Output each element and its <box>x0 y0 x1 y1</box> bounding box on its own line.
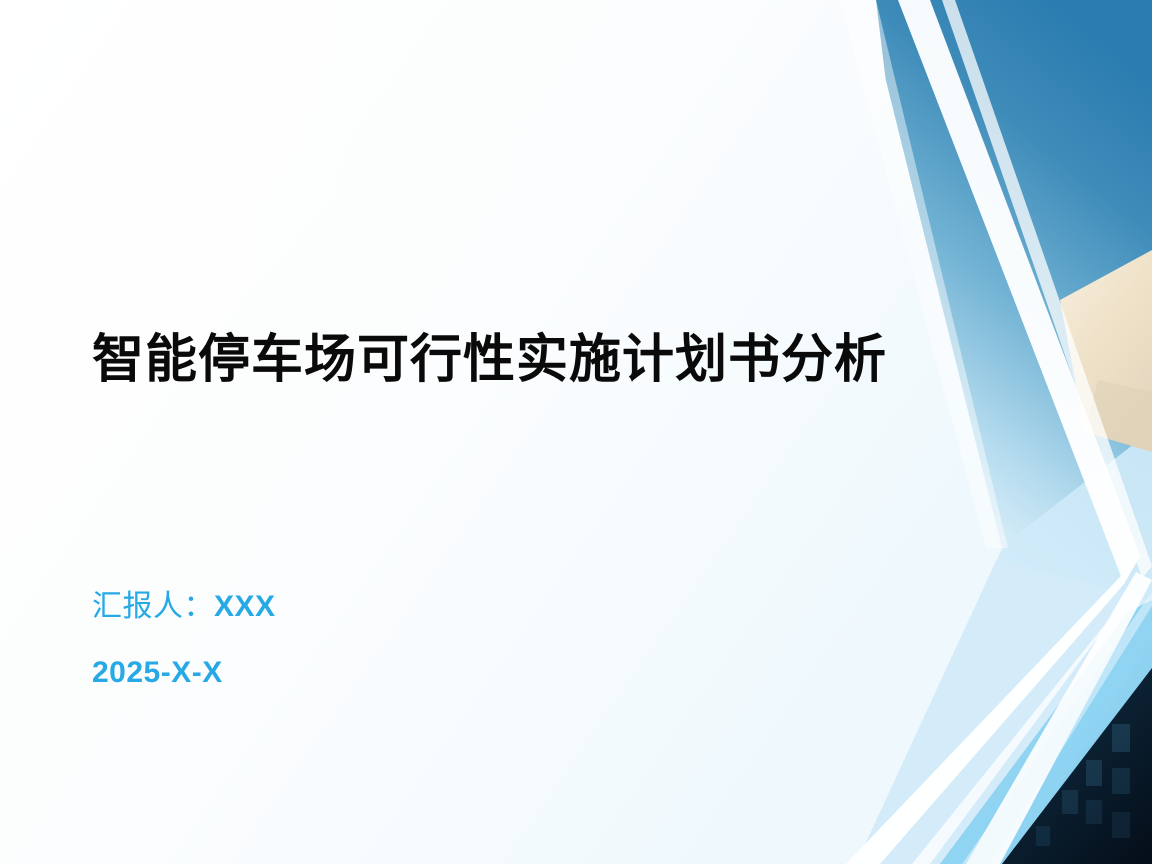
light-blue-band-extension <box>940 600 1152 864</box>
left-soft-fade <box>0 0 520 560</box>
centre-diagonal-highlight <box>840 0 1008 548</box>
light-blue-diagonal-band <box>940 600 1152 864</box>
pale-center-wedge <box>0 0 1002 864</box>
white-chevron-lower-arm <box>846 556 1140 864</box>
presenter-line: 汇报人：XXX <box>92 592 612 622</box>
blue-gradient-wedge-top-right <box>876 0 1152 600</box>
slide-date: 2025-X-X <box>92 658 612 688</box>
pale-blue-lower-right <box>790 430 1152 864</box>
subtitle-container: 汇报人：XXX 2025-X-X <box>92 592 612 688</box>
title-slide: 智能停车场可行性实施计划书分析 汇报人：XXX 2025-X-X <box>0 0 1152 864</box>
night-city-corner <box>1002 668 1152 864</box>
title-container: 智能停车场可行性实施计划书分析 <box>92 330 922 391</box>
band-white-separator-thin <box>962 592 1152 864</box>
presenter-name: XXX <box>214 590 276 623</box>
slide-decoration-artwork <box>0 0 1152 864</box>
chevron-inner-stripe-upper <box>942 0 1152 578</box>
night-city-windows <box>1036 724 1130 846</box>
chevron-inner-stripe-lower <box>912 566 1152 864</box>
band-white-separator <box>966 572 1152 864</box>
page-title: 智能停车场可行性实施计划书分析 <box>92 330 922 391</box>
presenter-label: 汇报人： <box>92 590 214 623</box>
white-chevron-upper-arm <box>898 0 1140 584</box>
tan-building-shadow <box>1085 380 1152 452</box>
tan-building-shape <box>1060 250 1152 452</box>
